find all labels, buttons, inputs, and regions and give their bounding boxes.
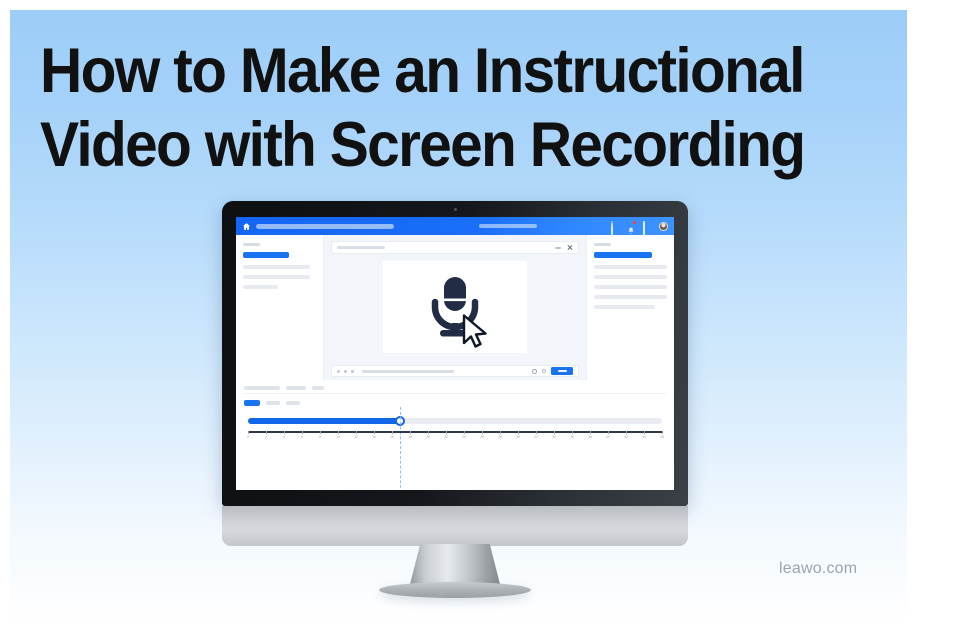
ruler-baseline: [248, 431, 662, 433]
panel-title-placeholder: [337, 246, 385, 249]
ruler-tick: [374, 431, 375, 434]
ruler-tick: [302, 431, 303, 434]
ruler-tick-label: 8: [319, 435, 321, 439]
ruler-tick-label: 38: [588, 435, 592, 439]
settings-circle-icon[interactable]: [532, 369, 537, 374]
ruler-tick-label: 24: [462, 435, 466, 439]
ruler-tick: [662, 431, 663, 434]
playback-progress[interactable]: [362, 370, 454, 373]
sidebar-left-label: [243, 243, 260, 246]
ruler-tick: [554, 431, 555, 434]
ruler-tick: [338, 431, 339, 434]
sidebar-item[interactable]: [243, 285, 278, 289]
ruler-tick-label: 32: [534, 435, 538, 439]
timeline-tab-row: [244, 398, 666, 407]
appbar-icon-group: [611, 222, 668, 231]
timeline-chip[interactable]: [244, 386, 280, 390]
ruler-tick-label: 20: [426, 435, 430, 439]
screenshot-root: How to Make an Instructional Video with …: [0, 0, 955, 636]
ruler-tick-label: 6: [301, 435, 303, 439]
ruler-tick-label: 18: [408, 435, 412, 439]
ruler-tick: [248, 431, 249, 434]
ruler-tick-label: 40: [606, 435, 610, 439]
monitor-mockup: 0246810121416182022242628303234363840424…: [222, 201, 688, 596]
sidebar-right-label: [594, 243, 611, 246]
sidebar-right-item[interactable]: [594, 285, 667, 289]
monitor-chin: [222, 506, 688, 546]
ruler-tick: [356, 431, 357, 434]
ruler-tick-label: 28: [498, 435, 502, 439]
ruler-tick-label: 36: [570, 435, 574, 439]
sidebar-left: [236, 235, 324, 380]
control-right-group: [532, 367, 573, 375]
ruler-tick-label: 44: [642, 435, 646, 439]
page-title: How to Make an Instructional Video with …: [40, 34, 831, 182]
control-dot[interactable]: [344, 370, 347, 373]
timeline-tab[interactable]: [286, 401, 300, 405]
ruler-tick-label: 34: [552, 435, 556, 439]
help-circle-icon[interactable]: [611, 222, 619, 230]
sidebar-right-item[interactable]: [594, 265, 667, 269]
user-avatar[interactable]: [659, 222, 668, 231]
timeline-tab[interactable]: [266, 401, 280, 405]
options-circle-icon[interactable]: [542, 369, 546, 373]
record-button[interactable]: [551, 367, 573, 375]
timeline-panel: 0246810121416182022242628303234363840424…: [236, 380, 674, 490]
sidebar-right-item[interactable]: [594, 275, 667, 279]
ruler-tick-label: 0: [247, 435, 249, 439]
ruler-tick: [410, 431, 411, 434]
panel-window-controls: [555, 245, 573, 251]
watermark: leawo.com: [779, 560, 857, 578]
preview-canvas: [383, 261, 527, 353]
notification-bell-icon[interactable]: [627, 222, 635, 230]
notification-badge: [633, 221, 636, 224]
ruler-tick-label: 42: [624, 435, 628, 439]
address-bar[interactable]: [256, 224, 394, 229]
ruler-tick-label: 2: [265, 435, 267, 439]
ruler-tick-label: 14: [372, 435, 376, 439]
ruler-tick: [500, 431, 501, 434]
ruler-tick-label: 26: [480, 435, 484, 439]
minimize-icon[interactable]: [555, 247, 561, 249]
control-dot[interactable]: [337, 370, 340, 373]
timeline-toolbar-row: [244, 385, 666, 394]
ruler-tick: [518, 431, 519, 434]
webcam-icon: [454, 208, 457, 211]
sidebar-right-active[interactable]: [594, 252, 652, 258]
timeline-tab-active[interactable]: [244, 400, 260, 406]
ruler-tick: [590, 431, 591, 434]
ruler-tick: [428, 431, 429, 434]
monitor-bezel: 0246810121416182022242628303234363840424…: [222, 201, 688, 506]
player-control-bar: [331, 365, 579, 377]
sidebar-item-active[interactable]: [243, 252, 289, 258]
home-icon[interactable]: [242, 222, 251, 231]
ruler-tick: [536, 431, 537, 434]
ruler-tick-label: 30: [516, 435, 520, 439]
ruler-tick: [266, 431, 267, 434]
timeline-chip[interactable]: [286, 386, 306, 390]
timeline-chip[interactable]: [312, 386, 324, 390]
panel-header: [331, 241, 579, 254]
ruler-tick: [392, 431, 393, 434]
sidebar-item[interactable]: [243, 275, 310, 279]
ruler-tick-label: 22: [444, 435, 448, 439]
ruler-tick-label: 16: [390, 435, 394, 439]
timeline-slider[interactable]: [244, 417, 666, 425]
sidebar-right-item[interactable]: [594, 305, 655, 309]
ruler-tick: [320, 431, 321, 434]
ruler-tick: [626, 431, 627, 434]
app-body: [236, 235, 674, 380]
monitor-screen: 0246810121416182022242628303234363840424…: [236, 217, 674, 490]
timeline-ruler: 0246810121416182022242628303234363840424…: [244, 431, 666, 453]
sidebar-right: [586, 235, 674, 380]
ruler-tick-label: 4: [283, 435, 285, 439]
sidebar-right-item[interactable]: [594, 295, 667, 299]
close-icon[interactable]: [567, 245, 573, 251]
ruler-tick-label: 12: [354, 435, 358, 439]
slider-fill: [248, 418, 404, 424]
apps-square-icon[interactable]: [643, 222, 651, 230]
ruler-tick: [464, 431, 465, 434]
ruler-tick: [482, 431, 483, 434]
editor-workspace: [324, 235, 586, 380]
monitor-stand-base: [379, 582, 531, 598]
ruler-tick: [446, 431, 447, 434]
browser-appbar: [236, 217, 674, 235]
ruler-tick-label: 46: [660, 435, 664, 439]
sidebar-item[interactable]: [243, 265, 310, 269]
ruler-tick: [284, 431, 285, 434]
ruler-tick: [572, 431, 573, 434]
microphone-icon: [425, 275, 485, 339]
ruler-tick: [644, 431, 645, 434]
control-dot[interactable]: [351, 370, 354, 373]
ruler-tick: [608, 431, 609, 434]
appbar-title-placeholder: [479, 224, 537, 228]
ruler-tick-label: 10: [336, 435, 340, 439]
